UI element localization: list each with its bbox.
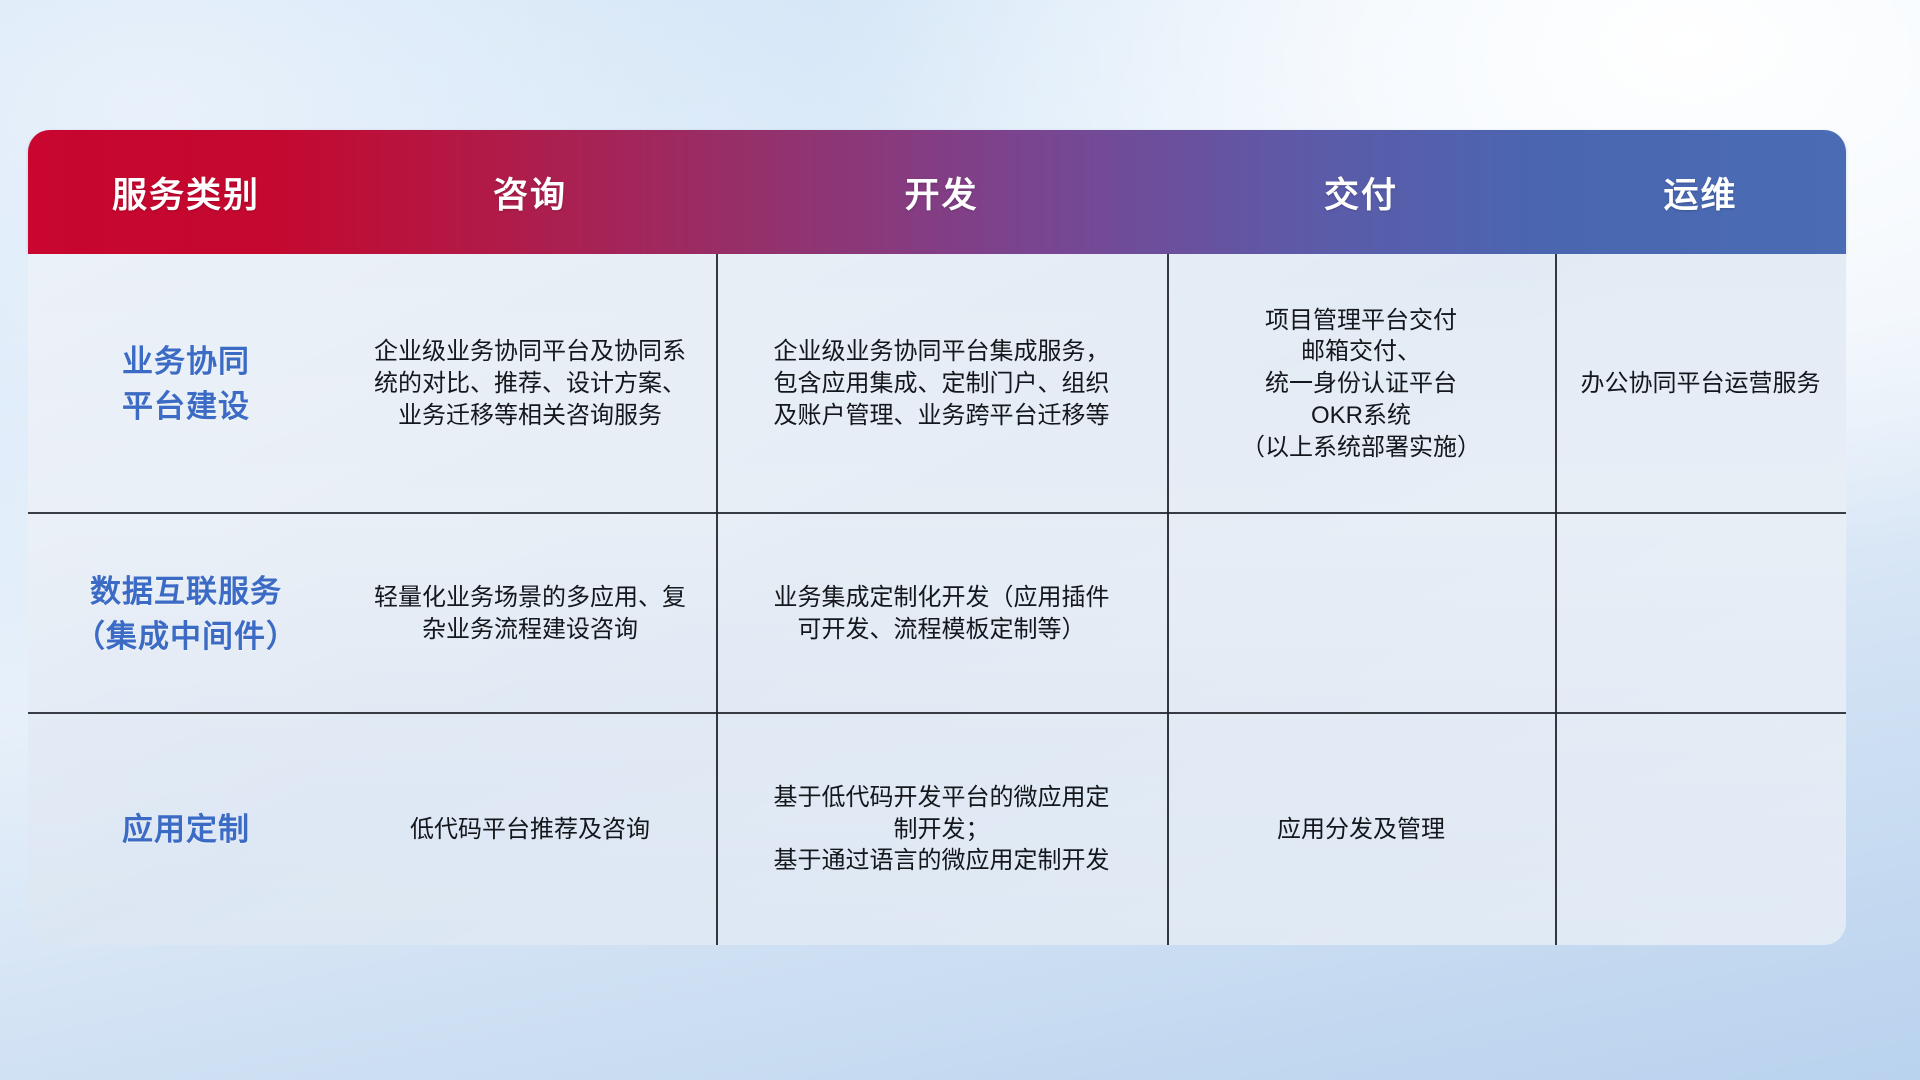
row-category-label: 数据互联服务 （集成中间件） — [74, 569, 298, 660]
cell-development: 基于低代码开发平台的微应用定 制开发； 基于通过语言的微应用定制开发 — [716, 714, 1167, 945]
cell-consulting: 轻量化业务场景的多应用、复 杂业务流程建设咨询 — [344, 514, 716, 714]
cell-operations: 办公协同平台运营服务 — [1555, 254, 1846, 514]
column-divider-1 — [716, 714, 718, 945]
service-matrix-table: 服务类别 咨询 开发 交付 运维 业务协同 平台建设 企业级业务协同平台及协同系… — [28, 130, 1846, 945]
table-row: 数据互联服务 （集成中间件） 轻量化业务场景的多应用、复 杂业务流程建设咨询 业… — [28, 514, 1846, 714]
column-divider-2 — [1167, 714, 1169, 945]
cell-development-text: 基于低代码开发平台的微应用定 制开发； 基于通过语言的微应用定制开发 — [774, 782, 1110, 877]
slide-canvas: 服务类别 咨询 开发 交付 运维 业务协同 平台建设 企业级业务协同平台及协同系… — [0, 0, 1920, 1080]
column-header-consulting: 咨询 — [344, 167, 716, 218]
row-category-cell: 业务协同 平台建设 — [28, 254, 344, 514]
cell-consulting-text: 轻量化业务场景的多应用、复 杂业务流程建设咨询 — [374, 582, 686, 645]
cell-operations — [1555, 714, 1846, 945]
column-divider-3 — [1555, 514, 1557, 714]
column-divider-2 — [1167, 514, 1169, 714]
table-row: 应用定制 低代码平台推荐及咨询 基于低代码开发平台的微应用定 制开发； 基于通过… — [28, 714, 1846, 945]
column-divider-1 — [716, 254, 718, 514]
cell-delivery-text: 项目管理平台交付 邮箱交付、 统一身份认证平台 OKR系统 （以上系统部署实施） — [1241, 305, 1481, 463]
cell-development-text: 企业级业务协同平台集成服务， 包含应用集成、定制门户、组织 及账户管理、业务跨平… — [774, 336, 1110, 431]
cell-delivery — [1167, 514, 1555, 714]
row-category-label: 应用定制 — [122, 807, 250, 852]
table-row: 业务协同 平台建设 企业级业务协同平台及协同系 统的对比、推荐、设计方案、 业务… — [28, 254, 1846, 514]
cell-delivery-text: 应用分发及管理 — [1277, 814, 1445, 846]
cell-consulting: 企业级业务协同平台及协同系 统的对比、推荐、设计方案、 业务迁移等相关咨询服务 — [344, 254, 716, 514]
row-category-cell: 数据互联服务 （集成中间件） — [28, 514, 344, 714]
column-divider-3 — [1555, 254, 1557, 514]
cell-delivery: 项目管理平台交付 邮箱交付、 统一身份认证平台 OKR系统 （以上系统部署实施） — [1167, 254, 1555, 514]
cell-consulting-text: 企业级业务协同平台及协同系 统的对比、推荐、设计方案、 业务迁移等相关咨询服务 — [374, 336, 686, 431]
row-category-cell: 应用定制 — [28, 714, 344, 945]
column-divider-1 — [716, 514, 718, 714]
cell-operations-text: 办公协同平台运营服务 — [1581, 368, 1821, 400]
column-header-category: 服务类别 — [28, 167, 344, 218]
column-header-delivery: 交付 — [1167, 167, 1555, 218]
column-divider-2 — [1167, 254, 1169, 514]
table-body: 业务协同 平台建设 企业级业务协同平台及协同系 统的对比、推荐、设计方案、 业务… — [28, 254, 1846, 945]
cell-development-text: 业务集成定制化开发（应用插件 可开发、流程模板定制等） — [774, 582, 1110, 645]
cell-operations — [1555, 514, 1846, 714]
cell-development: 企业级业务协同平台集成服务， 包含应用集成、定制门户、组织 及账户管理、业务跨平… — [716, 254, 1167, 514]
table-header-row: 服务类别 咨询 开发 交付 运维 — [28, 130, 1846, 254]
row-category-label: 业务协同 平台建设 — [122, 339, 250, 430]
column-header-development: 开发 — [716, 167, 1167, 218]
cell-delivery: 应用分发及管理 — [1167, 714, 1555, 945]
cell-consulting-text: 低代码平台推荐及咨询 — [410, 814, 650, 846]
column-header-operations: 运维 — [1555, 167, 1846, 218]
cell-development: 业务集成定制化开发（应用插件 可开发、流程模板定制等） — [716, 514, 1167, 714]
cell-consulting: 低代码平台推荐及咨询 — [344, 714, 716, 945]
column-divider-3 — [1555, 714, 1557, 945]
